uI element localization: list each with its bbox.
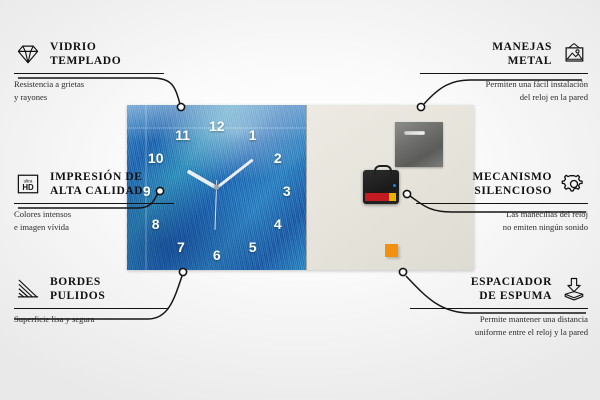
foam-spacer-icon: [560, 276, 588, 302]
feature-description: Las manecillas del reloj no emiten ningú…: [416, 208, 588, 233]
clock-numeral-7: 7: [177, 240, 185, 254]
feature-description: Superficie lisa y segura: [14, 313, 169, 325]
feature-manejas-metal: MANEJAS METAL Permiten una fácil instala…: [420, 40, 588, 103]
feature-divider: [14, 73, 164, 74]
clock-numeral-2: 2: [274, 151, 282, 165]
mechanism-hook: [374, 165, 392, 175]
clock-numeral-12: 12: [209, 119, 225, 133]
feature-description: Colores intensos e imagen vívida: [14, 208, 174, 233]
wall-frame-icon: [560, 41, 588, 67]
feature-header: VIDRIO TEMPLADO: [14, 40, 164, 69]
clock-numeral-4: 4: [274, 217, 282, 231]
clock-hour-hand: [186, 169, 217, 189]
polished-edges-icon: [14, 276, 42, 302]
feature-header: MECANISMO SILENCIOSO: [416, 170, 588, 199]
clock-numeral-11: 11: [175, 128, 190, 142]
gear-icon: [560, 171, 588, 197]
clock-numeral-1: 1: [249, 128, 257, 142]
feature-divider: [14, 308, 169, 309]
feature-title: MANEJAS METAL: [492, 40, 552, 69]
diamond-icon: [14, 41, 42, 67]
feature-mecanismo-silencioso: MECANISMO SILENCIOSO Las manecillas del …: [416, 170, 588, 233]
clock-pivot: [214, 185, 219, 190]
feature-header: ESPACIADOR DE ESPUMA: [410, 275, 588, 304]
clock-numeral-6: 6: [213, 248, 221, 262]
clock-minute-hand: [216, 158, 254, 189]
clock-numeral-5: 5: [249, 240, 257, 254]
feature-impresion-alta-calidad: ultra HD IMPRESIÓN DE ALTA CALIDAD Color…: [14, 170, 174, 233]
metal-hanger-part: [395, 122, 443, 167]
feature-divider: [416, 203, 588, 204]
feature-header: BORDES PULIDOS: [14, 275, 169, 304]
ultra-hd-icon: ultra HD: [14, 171, 42, 197]
feature-description: Permiten una fácil instalación del reloj…: [420, 78, 588, 103]
clock-numeral-3: 3: [283, 184, 291, 198]
feature-vidrio-templado: VIDRIO TEMPLADO Resistencia a grietas y …: [14, 40, 164, 103]
feature-title: IMPRESIÓN DE ALTA CALIDAD: [50, 170, 143, 199]
feature-divider: [14, 203, 174, 204]
feature-title: MECANISMO SILENCIOSO: [472, 170, 552, 199]
feature-header: ultra HD IMPRESIÓN DE ALTA CALIDAD: [14, 170, 174, 199]
feature-header: MANEJAS METAL: [420, 40, 588, 69]
svg-text:HD: HD: [22, 184, 34, 193]
feature-divider: [420, 73, 588, 74]
clock-numeral-10: 10: [148, 151, 164, 165]
feature-title: VIDRIO TEMPLADO: [50, 40, 121, 69]
clock-second-hand: [215, 179, 218, 229]
feature-title: BORDES PULIDOS: [50, 275, 105, 304]
feature-divider: [410, 308, 588, 309]
product-feature-infographic: 12 1 2 3 4 5 6 7 8 9 10 11: [0, 0, 600, 400]
feature-description: Permite mantener una distancia uniforme …: [410, 313, 588, 338]
foam-spacer-part: [385, 244, 398, 257]
feature-description: Resistencia a grietas y rayones: [14, 78, 164, 103]
mechanism-label-strip: [365, 193, 396, 201]
feature-espaciador-espuma: ESPACIADOR DE ESPUMA Permite mantener un…: [410, 275, 588, 338]
mechanism-indicator: [393, 184, 396, 187]
quartz-mechanism-part: [363, 170, 399, 204]
feature-title: ESPACIADOR DE ESPUMA: [471, 275, 552, 304]
feature-bordes-pulidos: BORDES PULIDOS Superficie lisa y segura: [14, 275, 169, 326]
